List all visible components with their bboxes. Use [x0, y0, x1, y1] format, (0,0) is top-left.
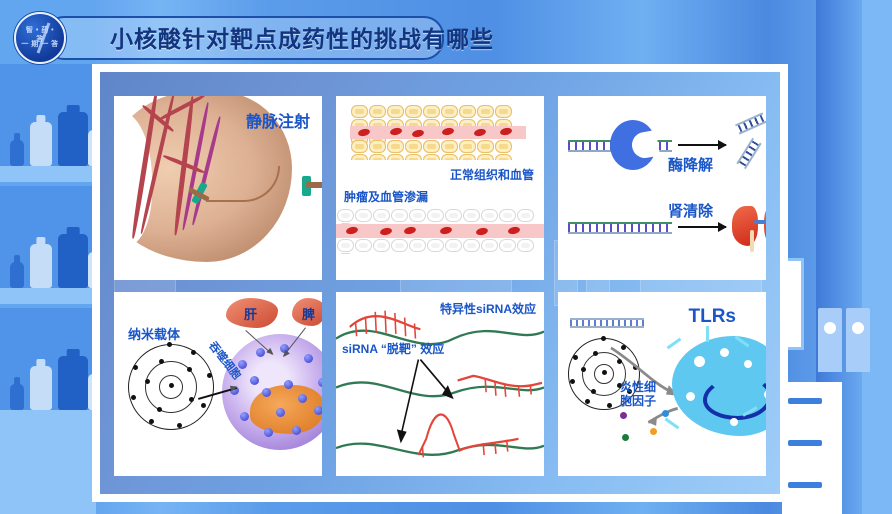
phagocyte-nucleus — [250, 385, 322, 434]
panel-nanocarrier-uptake[interactable]: 纳米载体 — [114, 292, 322, 476]
logo-text-line2: 一 期 一 答 — [21, 40, 59, 49]
red-blood-cell — [439, 226, 452, 235]
kidney-left-icon — [732, 206, 758, 246]
fullerene-node — [133, 365, 138, 370]
clearance-arrow — [678, 226, 726, 228]
red-blood-cell — [473, 128, 486, 137]
offtarget-pointer-1 — [401, 360, 419, 437]
mrna-strand-2 — [336, 382, 544, 396]
background-band-right-light — [862, 0, 892, 514]
fullerene-node — [145, 379, 150, 384]
tissue-cell — [351, 140, 368, 153]
granule — [292, 426, 301, 435]
tissue-cell — [387, 154, 404, 160]
tissue-cell — [459, 154, 476, 160]
fullerene-node — [131, 395, 136, 400]
panel-iv-injection[interactable]: 静脉注射 — [114, 96, 322, 280]
tumor-tissue-block — [336, 208, 544, 254]
pharmacy-shelf-2 — [0, 186, 96, 304]
vacuole — [730, 418, 738, 426]
panel-label-liver: 肝 — [244, 304, 257, 323]
tissue-cell — [441, 140, 458, 153]
tissue-cell — [369, 105, 386, 118]
shelf-ledge — [0, 166, 96, 182]
bottle-tall — [30, 244, 52, 288]
tumor-cell — [373, 209, 390, 222]
red-blood-cell — [389, 127, 402, 136]
fullerene-node — [187, 367, 192, 372]
jar-large — [58, 356, 88, 410]
background-floor-left — [0, 426, 96, 514]
pharmacy-shelf-1 — [0, 64, 96, 182]
page-title: 小核酸针对靶点成药性的挑战有哪些 — [110, 20, 494, 54]
tumor-cell — [499, 209, 516, 222]
tumor-cell — [517, 209, 534, 222]
panel-off-target-effect[interactable]: 特异性siRNA效应 siRNA “脱靶” 效应 — [336, 292, 544, 476]
cytokine-dot-green — [622, 434, 629, 441]
tissue-cell — [405, 154, 422, 160]
red-blood-cell — [475, 227, 488, 236]
mrna-waves-svg — [336, 292, 544, 476]
sirna-fragment — [736, 138, 761, 169]
renal-vessel — [754, 220, 766, 224]
red-blood-cell — [507, 226, 520, 235]
tissue-cell — [477, 154, 494, 160]
tumor-cell — [391, 209, 408, 222]
vacuole — [720, 348, 729, 357]
tissue-cell — [459, 140, 476, 153]
tumor-cell — [445, 209, 462, 222]
slide-canvas: 静脉注射 — [100, 72, 780, 494]
tumor-cell — [481, 209, 498, 222]
binder-file-1 — [818, 308, 842, 372]
tissue-cell — [369, 140, 386, 153]
panel-vascular-leakage[interactable]: 正常组织和血管 肿瘤及血管渗漏 — [336, 96, 544, 280]
pharmacy-shelf-3 — [0, 308, 96, 426]
cytokine-dot-blue — [662, 410, 669, 417]
tissue-cell — [369, 154, 386, 160]
red-blood-cell — [411, 129, 424, 138]
tumor-cell — [409, 209, 426, 222]
binder-file-2 — [846, 308, 870, 372]
nanocarrier-fullerene-icon — [128, 344, 214, 430]
tissue-cell — [423, 105, 440, 118]
bottle-tall — [30, 366, 52, 410]
red-blood-cell — [357, 128, 370, 137]
bottle-tall — [30, 122, 52, 166]
panel-innate-immune-tlr[interactable]: TLRs 炎性细 胞因子 — [558, 292, 766, 476]
tumor-cell — [409, 239, 426, 252]
fullerene-node — [159, 359, 164, 364]
drawer-handle — [788, 440, 822, 446]
granule — [240, 412, 249, 421]
tumor-cell — [373, 239, 390, 252]
sirna-bulge-offtarget-2 — [418, 414, 518, 455]
vacuole — [686, 392, 695, 401]
fullerene-node — [177, 423, 182, 428]
panel-grid: 静脉注射 — [114, 96, 766, 476]
tissue-cell — [477, 140, 494, 153]
normal-tissue-block — [350, 104, 526, 160]
binder-ring-dot — [824, 322, 836, 334]
vacuole — [744, 360, 752, 368]
slide-screenshot: 智 • 药 • 答 一 期 一 答 小核酸针对靶点成药性的挑战有哪些 — [0, 0, 892, 514]
panel-label-cytokine-line2: 胞因子 — [620, 392, 656, 409]
tumor-cell — [463, 239, 480, 252]
slide-frame: 静脉注射 — [92, 64, 788, 502]
sirna-bound-offtarget-1 — [458, 376, 542, 386]
fullerene-node — [191, 350, 196, 355]
shelf-ledge — [0, 288, 96, 304]
tissue-cell — [387, 105, 404, 118]
vacuole — [764, 390, 766, 399]
panel-label-specific-sirna: 特异性siRNA效应 — [440, 300, 536, 317]
panel-label-offtarget-sirna: siRNA “脱靶” 效应 — [342, 340, 444, 357]
tlr-receptor-spike — [706, 326, 709, 342]
tissue-cell — [423, 154, 440, 160]
panel-degradation-clearance[interactable]: 酶降解 肾清除 — [558, 96, 766, 280]
granule — [284, 380, 293, 389]
granule — [276, 408, 285, 417]
panel-label-tumor-leakage: 肿瘤及血管渗漏 — [344, 188, 428, 205]
sirna-fragment — [735, 112, 766, 134]
binder-ring-dot — [852, 322, 864, 334]
fullerene-node — [207, 373, 212, 378]
tissue-cell — [495, 105, 512, 118]
tumor-cell — [517, 239, 534, 252]
tissue-cell — [495, 154, 512, 160]
kidney-right-icon — [764, 206, 766, 246]
tumor-cell — [337, 253, 354, 254]
nuclease-enzyme-icon — [610, 120, 656, 170]
bottle-small — [10, 140, 24, 166]
sirna-base-pairs — [568, 224, 672, 232]
tumor-cell — [337, 209, 354, 222]
shelf-ledge — [0, 410, 96, 426]
tissue-cell — [477, 105, 494, 118]
ureter — [750, 230, 754, 252]
tumor-cell — [445, 239, 462, 252]
panel-label-iv: 静脉注射 — [246, 108, 310, 132]
bottle-small — [10, 262, 24, 288]
granule — [256, 348, 265, 357]
panel-label-enzyme-degradation: 酶降解 — [668, 154, 713, 175]
immune-cell-nucleus — [703, 376, 766, 420]
fullerene-node — [169, 383, 174, 388]
normal-vessel-lumen — [350, 126, 526, 139]
panel-label-normal-tissue: 正常组织和血管 — [450, 166, 534, 183]
mrna-strand-3 — [336, 444, 544, 455]
tissue-cell — [495, 140, 512, 153]
red-blood-cell — [441, 127, 454, 136]
tumor-cell-rows-bottom — [336, 238, 544, 254]
tumor-cell — [463, 209, 480, 222]
granule — [314, 406, 322, 415]
fullerene-node — [201, 403, 206, 408]
bottle-small — [10, 384, 24, 410]
panel-label-spleen: 脾 — [302, 304, 315, 323]
normal-cell-rows-top — [350, 104, 526, 128]
panel-label-tlrs: TLRs — [689, 306, 737, 328]
tumor-cell — [391, 239, 408, 252]
tissue-cell — [387, 140, 404, 153]
fullerene-node — [149, 419, 154, 424]
tissue-cell — [351, 105, 368, 118]
tumor-cell — [481, 239, 498, 252]
drawer-handle — [788, 482, 822, 488]
granule — [262, 388, 271, 397]
jar-large — [58, 112, 88, 166]
fullerene-node — [157, 407, 162, 412]
red-blood-cell — [345, 226, 358, 235]
drawer-handle — [788, 398, 822, 404]
tumor-cell — [499, 239, 516, 252]
tumor-cell — [355, 239, 372, 252]
syringe-body — [306, 182, 322, 188]
degradation-arrow — [678, 144, 726, 146]
tissue-cell — [441, 154, 458, 160]
tumor-cell — [427, 209, 444, 222]
tissue-cell — [459, 105, 476, 118]
granule — [304, 354, 313, 363]
offtarget-pointer-1-head — [397, 429, 407, 443]
jar-large — [58, 234, 88, 288]
program-logo-badge: 智 • 药 • 答 一 期 一 答 — [14, 12, 66, 64]
tissue-cell — [423, 140, 440, 153]
granule — [318, 378, 322, 387]
fullerene-node — [189, 397, 194, 402]
panel-label-nanocarrier: 纳米载体 — [128, 324, 180, 343]
sirna-duplex-intact-bottom — [568, 222, 672, 234]
red-blood-cell — [499, 127, 512, 136]
granule — [298, 394, 307, 403]
red-blood-cell — [379, 227, 392, 236]
red-blood-cell — [403, 226, 416, 235]
granule — [264, 428, 273, 437]
tumor-cell — [355, 209, 372, 222]
normal-cell-rows-bottom — [350, 139, 526, 160]
cytokine-dot-purple — [620, 412, 627, 419]
cytokine-dot-orange — [650, 428, 657, 435]
tissue-cell — [351, 154, 368, 160]
tumor-cell — [427, 239, 444, 252]
enzyme-active-site — [630, 130, 660, 160]
panel-label-renal-clearance: 肾清除 — [668, 200, 713, 221]
tumor-vessel-lumen — [336, 224, 544, 238]
tumor-cell — [337, 239, 354, 252]
tissue-cell — [405, 140, 422, 153]
vacuole — [694, 356, 705, 367]
sirna-strand-antisense — [568, 232, 672, 234]
granule — [250, 376, 259, 385]
tissue-cell — [405, 105, 422, 118]
tissue-cell — [441, 105, 458, 118]
